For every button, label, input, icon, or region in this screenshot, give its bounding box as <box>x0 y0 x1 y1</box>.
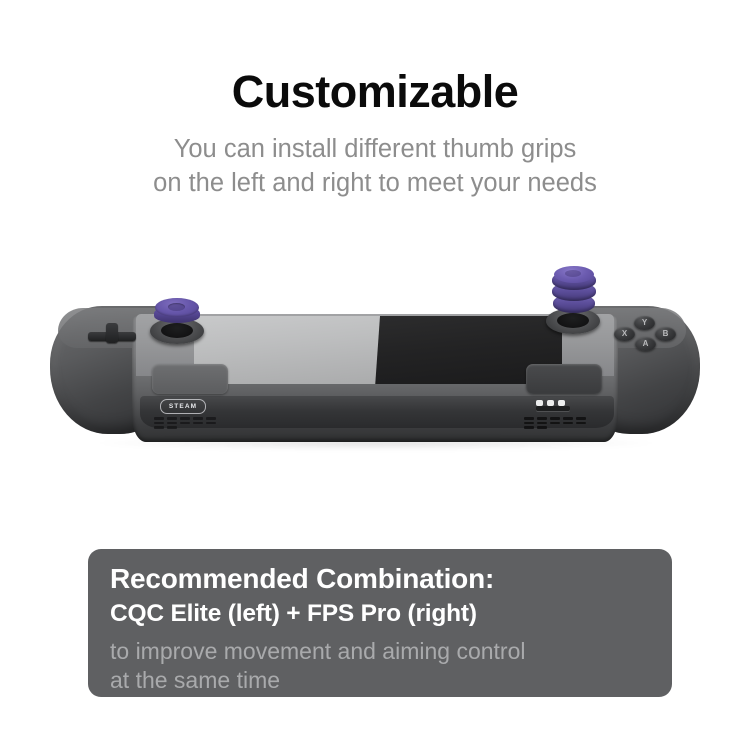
device-screen <box>194 316 562 384</box>
button-a[interactable]: A <box>635 337 656 351</box>
fps-grip-dimple <box>565 270 581 277</box>
face-button-cluster: Y X B A <box>612 316 682 356</box>
page-subtitle: You can install different thumb grips on… <box>0 115 750 200</box>
button-b[interactable]: B <box>655 327 676 341</box>
cqc-grip-dimple <box>168 303 185 311</box>
callout-heading: Recommended Combination: <box>110 562 650 596</box>
steam-button[interactable]: STEAM <box>160 399 206 414</box>
subtitle-line-1: You can install different thumb grips <box>0 133 750 167</box>
dpad[interactable] <box>86 322 138 346</box>
header-block: Customizable You can install different t… <box>0 0 750 201</box>
left-thumb-grip-cqc-elite[interactable] <box>154 298 200 328</box>
right-thumb-grip-fps-pro[interactable] <box>552 266 596 320</box>
recommended-combination-callout: Recommended Combination: CQC Elite (left… <box>88 549 672 697</box>
callout-note: to improve movement and aiming control a… <box>110 628 650 695</box>
button-x[interactable]: X <box>614 327 635 341</box>
menu-dot-icon <box>547 400 554 406</box>
microsd-slot <box>536 406 570 411</box>
menu-dot-icon <box>536 400 543 406</box>
product-image: STEAM Y X B <box>0 230 750 520</box>
right-trackpad[interactable] <box>526 364 602 394</box>
device-drop-shadow <box>96 436 656 450</box>
right-speaker-grille <box>524 417 586 437</box>
menu-dot-icon <box>558 400 565 406</box>
dpad-vertical-bar <box>106 323 118 343</box>
button-y[interactable]: Y <box>634 316 655 330</box>
callout-combination: CQC Elite (left) + FPS Pro (right) <box>110 596 650 628</box>
left-speaker-grille <box>154 417 216 437</box>
steam-button-label: STEAM <box>169 403 197 410</box>
callout-note-line-2: at the same time <box>110 666 650 695</box>
menu-dots-button[interactable] <box>536 400 565 406</box>
page-title: Customizable <box>0 0 750 115</box>
callout-note-line-1: to improve movement and aiming control <box>110 637 650 666</box>
subtitle-line-2: on the left and right to meet your needs <box>0 167 750 201</box>
left-trackpad[interactable] <box>152 364 228 394</box>
